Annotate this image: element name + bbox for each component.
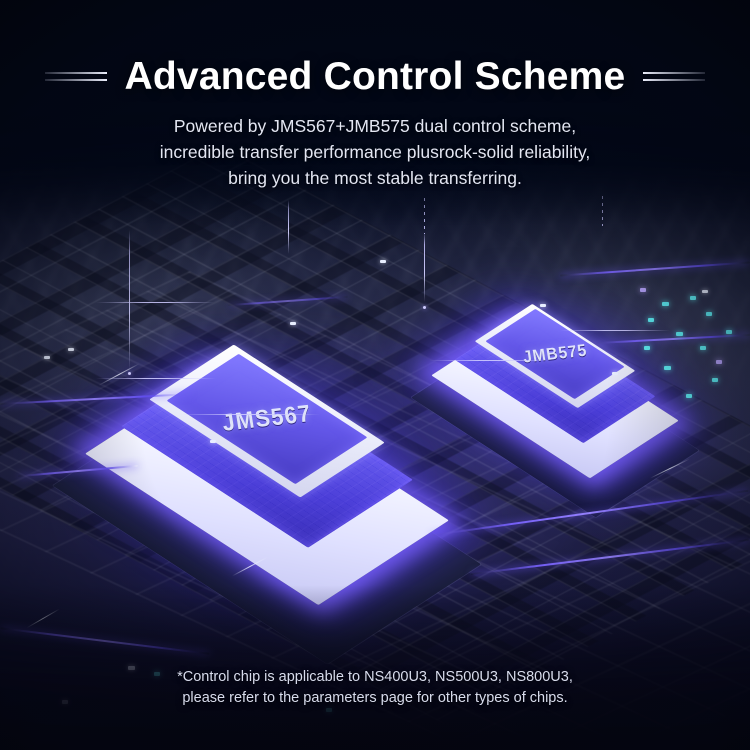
- subtitle-line-1: Powered by JMS567+JMB575 dual control sc…: [0, 113, 750, 139]
- title-row: Advanced Control Scheme: [0, 57, 750, 96]
- subtitle-block: Powered by JMS567+JMB575 dual control sc…: [0, 113, 750, 191]
- decorative-rule-right-icon: [643, 71, 705, 82]
- subtitle-line-3: bring you the most stable transferring.: [0, 165, 750, 191]
- footnote-line-1: *Control chip is applicable to NS400U3, …: [0, 667, 750, 688]
- page-title: Advanced Control Scheme: [125, 57, 626, 96]
- footnote-line-2: please refer to the parameters page for …: [0, 688, 750, 709]
- subtitle-line-2: incredible transfer performance plusrock…: [0, 139, 750, 165]
- decorative-rule-left-icon: [45, 71, 107, 82]
- banner-header: Advanced Control Scheme Powered by JMS56…: [0, 0, 750, 191]
- footnote-block: *Control chip is applicable to NS400U3, …: [0, 667, 750, 709]
- product-feature-banner: JMB575 JMS567: [0, 0, 750, 750]
